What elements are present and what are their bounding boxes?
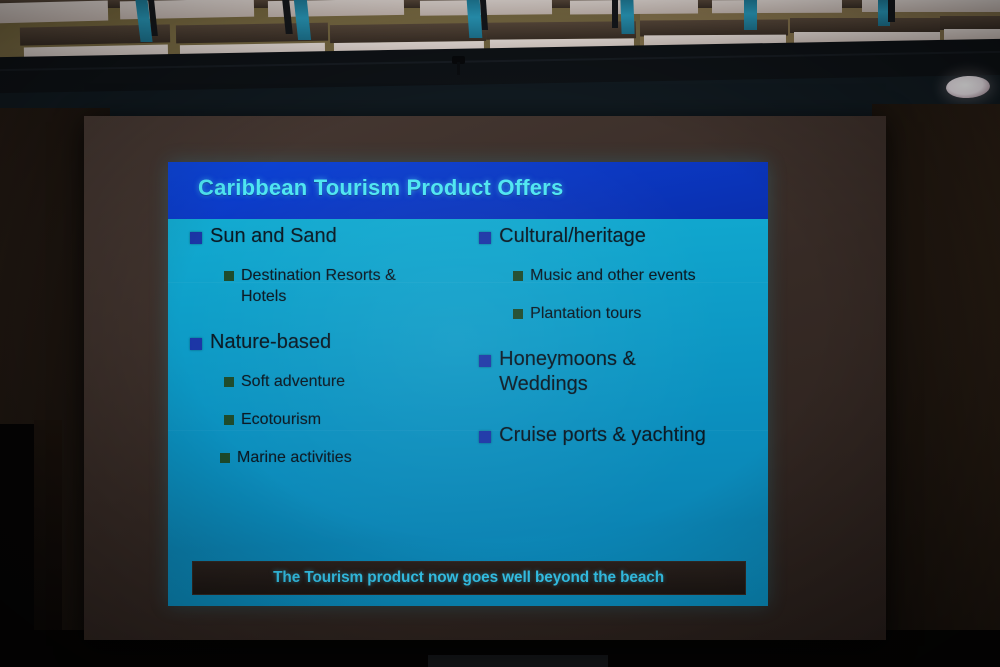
- hanging-banner: [620, 0, 634, 34]
- bullet-square-level1-icon: [190, 338, 202, 350]
- ceiling-slat-edge: [330, 23, 486, 43]
- spacer: [479, 329, 768, 347]
- room-scene: Caribbean Tourism Product Offers Sun and…: [0, 0, 1000, 667]
- scanline: [168, 282, 768, 283]
- bullet-square-level1-icon: [479, 431, 491, 443]
- bullet-square-level1-icon: [479, 232, 491, 244]
- bullet-label: Sun and Sand: [210, 224, 337, 249]
- ceiling-slat-edge: [790, 18, 940, 33]
- banner-shadow: [612, 0, 618, 28]
- slide-body: Sun and Sand Destination Resorts & Hotel…: [168, 224, 768, 544]
- bullet-item-honeymoons-weddings: Honeymoons & Weddings: [479, 347, 768, 397]
- spacer: [190, 253, 471, 265]
- bullet-item-plantation-tours: Plantation tours: [513, 303, 768, 324]
- spacer: [190, 312, 471, 330]
- bullet-square-level1-icon: [190, 232, 202, 244]
- spacer: [190, 435, 471, 447]
- projected-slide: Caribbean Tourism Product Offers Sun and…: [168, 162, 768, 606]
- bullet-label: Soft adventure: [241, 371, 345, 392]
- bullet-square-level2-icon: [220, 453, 230, 463]
- bullet-item-marine-activities: Marine activities: [220, 447, 471, 468]
- spacer: [479, 253, 768, 265]
- bullet-item-sun-and-sand: Sun and Sand: [190, 224, 471, 249]
- bullet-square-level2-icon: [513, 271, 523, 281]
- bullet-square-level2-icon: [224, 377, 234, 387]
- left-column: Sun and Sand Destination Resorts & Hotel…: [168, 224, 471, 544]
- bullet-label: Cruise ports & yachting: [499, 423, 706, 448]
- bullet-label: Nature-based: [210, 330, 331, 355]
- bullet-label: Destination Resorts & Hotels: [241, 265, 439, 307]
- bullet-label: Ecotourism: [241, 409, 321, 430]
- bullet-label: Cultural/heritage: [499, 224, 646, 249]
- spacer: [190, 397, 471, 409]
- bullet-label: Plantation tours: [530, 303, 641, 324]
- ceiling-slat: [712, 0, 842, 13]
- bullet-item-soft-adventure: Soft adventure: [224, 371, 471, 392]
- scanline: [168, 430, 768, 431]
- right-wall: [872, 104, 1000, 667]
- bullet-item-cruise-ports-yachting: Cruise ports & yachting: [479, 423, 768, 448]
- ceiling-slat-edge: [940, 16, 1000, 30]
- slide-footer-text: The Tourism product now goes well beyond…: [274, 569, 665, 587]
- spacer: [479, 291, 768, 303]
- banner-shadow: [888, 0, 895, 22]
- bullet-square-level2-icon: [513, 309, 523, 319]
- bullet-square-level1-icon: [479, 355, 491, 367]
- spacer: [479, 401, 768, 423]
- ceiling-mount-stem: [457, 62, 460, 75]
- bullet-item-nature-based: Nature-based: [190, 330, 471, 355]
- ceiling-slat: [570, 0, 698, 14]
- bullet-item-ecotourism: Ecotourism: [224, 409, 471, 430]
- bullet-square-level2-icon: [224, 415, 234, 425]
- ceiling-slat: [0, 1, 108, 24]
- right-column: Cultural/heritage Music and other events…: [471, 224, 768, 544]
- bullet-square-level2-icon: [224, 271, 234, 281]
- slide-footer-bar: The Tourism product now goes well beyond…: [192, 561, 746, 595]
- hanging-banner: [744, 0, 757, 30]
- bullet-item-destination-resorts-hotels: Destination Resorts & Hotels: [224, 265, 471, 307]
- spacer: [190, 359, 471, 371]
- table-edge: [428, 655, 608, 667]
- slide-title: Caribbean Tourism Product Offers: [198, 175, 563, 201]
- bullet-item-cultural-heritage: Cultural/heritage: [479, 224, 768, 249]
- bullet-label: Marine activities: [237, 447, 352, 468]
- bullet-label: Honeymoons & Weddings: [499, 347, 669, 397]
